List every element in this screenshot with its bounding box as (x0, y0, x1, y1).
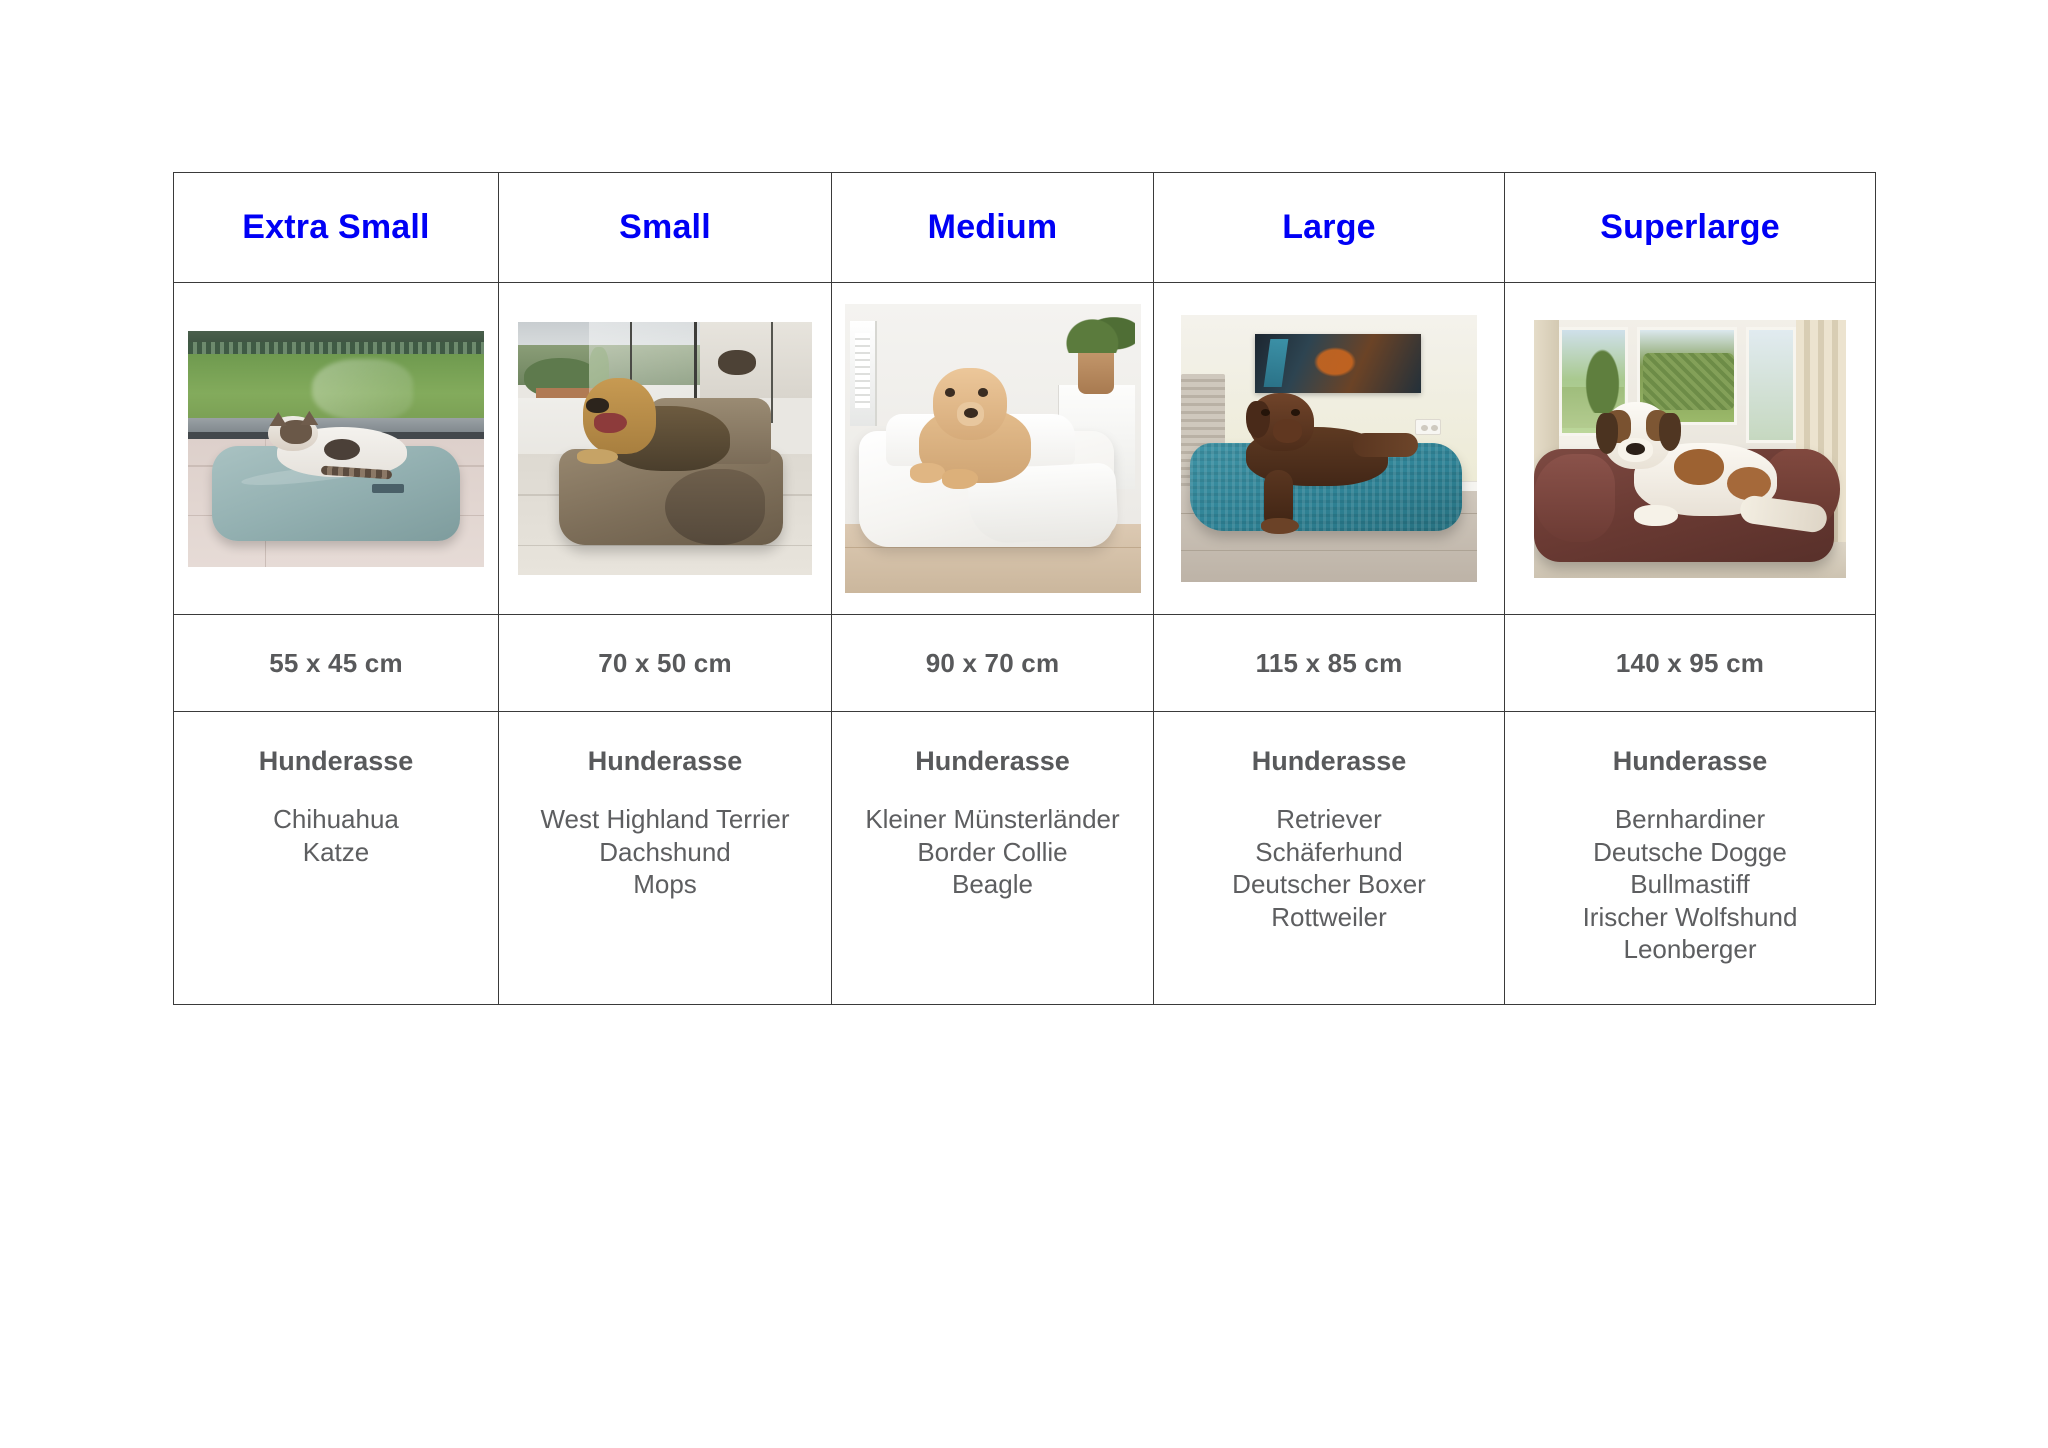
breed-item: Dachshund (540, 836, 789, 869)
breed-item: Schäferhund (1232, 836, 1426, 869)
doodle-nose (964, 408, 977, 418)
dimension-cell-small: 70 x 50 cm (499, 615, 832, 712)
breed-item: Irischer Wolfshund (1583, 901, 1798, 934)
terrier-nose (586, 398, 610, 413)
breed-item: Leonberger (1583, 933, 1798, 966)
photo-frame-medium (832, 284, 1153, 614)
photo-cell-extra-small (174, 283, 499, 615)
breeds-cell-medium: Hunderasse Kleiner Münsterländer Border … (832, 712, 1154, 1005)
header-cell-extra-small: Extra Small (174, 173, 499, 283)
breed-list-small: West Highland Terrier Dachshund Mops (540, 803, 789, 901)
size-name-large: Large (1154, 209, 1504, 246)
dimension-large: 115 x 85 cm (1154, 648, 1504, 679)
breed-heading: Hunderasse (1613, 746, 1768, 777)
breed-item: Retriever (1232, 803, 1426, 836)
tile-seam-b (518, 545, 812, 546)
breed-block-small: Hunderasse West Highland Terrier Dachshu… (499, 712, 831, 901)
socket-hole-left (1421, 425, 1428, 431)
glass-reflection (312, 359, 413, 420)
breed-heading: Hunderasse (915, 746, 1070, 777)
bed-bolster-left (1534, 454, 1615, 542)
table-dimension-row: 55 x 45 cm 70 x 50 cm 90 x 70 cm 115 x 8… (174, 615, 1876, 712)
photo-cell-large (1154, 283, 1505, 615)
outdoor-hedge (1643, 353, 1733, 410)
breed-heading: Hunderasse (259, 746, 414, 777)
doodle-eye-right (978, 388, 988, 397)
breed-item: Deutscher Boxer (1232, 868, 1426, 901)
size-name-extra-small: Extra Small (174, 209, 498, 246)
breed-list-superlarge: Bernhardiner Deutsche Dogge Bullmastiff … (1583, 803, 1798, 966)
dimension-cell-large: 115 x 85 cm (1154, 615, 1505, 712)
labrador-hindquarters (1353, 433, 1418, 457)
breed-block-medium: Hunderasse Kleiner Münsterländer Border … (832, 712, 1153, 901)
photo-cream-doodle-puppy-on-white-bed (845, 304, 1141, 593)
saint-bernard-paw (1634, 505, 1678, 526)
breed-heading: Hunderasse (588, 746, 743, 777)
window-blind (855, 333, 870, 408)
floor-plank-seam-b (1181, 550, 1477, 551)
artwork-orange-area (1311, 345, 1358, 380)
size-name-medium: Medium (832, 209, 1153, 246)
breed-block-superlarge: Hunderasse Bernhardiner Deutsche Dogge B… (1505, 712, 1875, 966)
dimension-cell-extra-small: 55 x 45 cm (174, 615, 499, 712)
dimension-cell-medium: 90 x 70 cm (832, 615, 1154, 712)
bed-bolster (665, 469, 765, 545)
breed-item: Border Collie (865, 836, 1119, 869)
labrador-eye-left (1261, 409, 1270, 416)
table-header-row: Extra Small Small Medium Large Superlarg… (174, 173, 1876, 283)
page-canvas: Extra Small Small Medium Large Superlarg… (0, 0, 2048, 1448)
photo-cell-superlarge (1505, 283, 1876, 615)
breed-item: Chihuahua (273, 803, 399, 836)
header-cell-large: Large (1154, 173, 1505, 283)
table-photo-row (174, 283, 1876, 615)
photo-frame-superlarge (1505, 284, 1875, 614)
dog-bed-size-table: Extra Small Small Medium Large Superlarg… (173, 172, 1876, 1005)
window-mullion-3 (771, 322, 773, 423)
labrador-eye-right (1291, 409, 1300, 416)
breed-item: Deutsche Dogge (1583, 836, 1798, 869)
doodle-paw-right (942, 469, 978, 489)
breed-heading: Hunderasse (1252, 746, 1407, 777)
dimension-extra-small: 55 x 45 cm (174, 648, 498, 679)
fur-patch-b (1727, 467, 1771, 501)
breeds-cell-large: Hunderasse Retriever Schäferhund Deutsch… (1154, 712, 1505, 1005)
photo-cell-small (499, 283, 832, 615)
photo-saint-bernard-on-burgundy-bed (1534, 320, 1846, 578)
photo-cat-on-sage-green-dog-bed-terrace (188, 331, 484, 567)
photo-chocolate-labrador-on-teal-bed (1181, 315, 1477, 582)
photo-cell-medium (832, 283, 1154, 615)
terrier-paw (577, 449, 618, 464)
photo-frame-extra-small (174, 284, 498, 614)
header-cell-small: Small (499, 173, 832, 283)
breed-item: Katze (273, 836, 399, 869)
dimension-medium: 90 x 70 cm (832, 648, 1153, 679)
breed-list-large: Retriever Schäferhund Deutscher Boxer Ro… (1232, 803, 1426, 933)
floor-plank-seam (845, 547, 1141, 548)
dimension-superlarge: 140 x 95 cm (1505, 648, 1875, 679)
photo-frame-small (499, 284, 831, 614)
saint-bernard-nose (1626, 443, 1645, 455)
breed-block-extra-small: Hunderasse Chihuahua Katze (174, 712, 498, 868)
dimension-small: 70 x 50 cm (499, 648, 831, 679)
house-plant (1064, 304, 1135, 353)
breed-item: Kleiner Münsterländer (865, 803, 1119, 836)
header-cell-superlarge: Superlarge (1505, 173, 1876, 283)
outdoor-tree (1581, 340, 1625, 412)
breed-item: Bullmastiff (1583, 868, 1798, 901)
breeds-cell-small: Hunderasse West Highland Terrier Dachshu… (499, 712, 832, 1005)
window-right (1746, 327, 1796, 443)
breed-item: Mops (540, 868, 789, 901)
breeds-cell-extra-small: Hunderasse Chihuahua Katze (174, 712, 499, 1005)
breed-item: West Highland Terrier (540, 803, 789, 836)
dimension-cell-superlarge: 140 x 95 cm (1505, 615, 1876, 712)
photo-terrier-on-brown-leather-sofa-bed (518, 322, 812, 575)
breed-list-extra-small: Chihuahua Katze (273, 803, 399, 868)
breed-item: Beagle (865, 868, 1119, 901)
size-name-small: Small (499, 209, 831, 246)
table-breeds-row: Hunderasse Chihuahua Katze Hunderasse We… (174, 712, 1876, 1005)
labrador-ear (1246, 401, 1270, 438)
photo-frame-large (1154, 284, 1504, 614)
outdoor-shrub-far (718, 350, 756, 375)
doodle-eye-left (945, 388, 955, 397)
header-cell-medium: Medium (832, 173, 1154, 283)
breed-list-medium: Kleiner Münsterländer Border Collie Beag… (865, 803, 1119, 901)
fur-patch-a (1674, 449, 1724, 485)
labrador-snout (1273, 419, 1303, 443)
saint-bernard-ear-right (1659, 413, 1681, 452)
breed-item: Rottweiler (1232, 901, 1426, 934)
bed-brand-tag (372, 484, 405, 493)
breed-item: Bernhardiner (1583, 803, 1798, 836)
size-name-superlarge: Superlarge (1505, 209, 1875, 246)
saint-bernard-ear-left (1596, 413, 1618, 454)
breeds-cell-superlarge: Hunderasse Bernhardiner Deutsche Dogge B… (1505, 712, 1876, 1005)
breed-block-large: Hunderasse Retriever Schäferhund Deutsch… (1154, 712, 1504, 933)
